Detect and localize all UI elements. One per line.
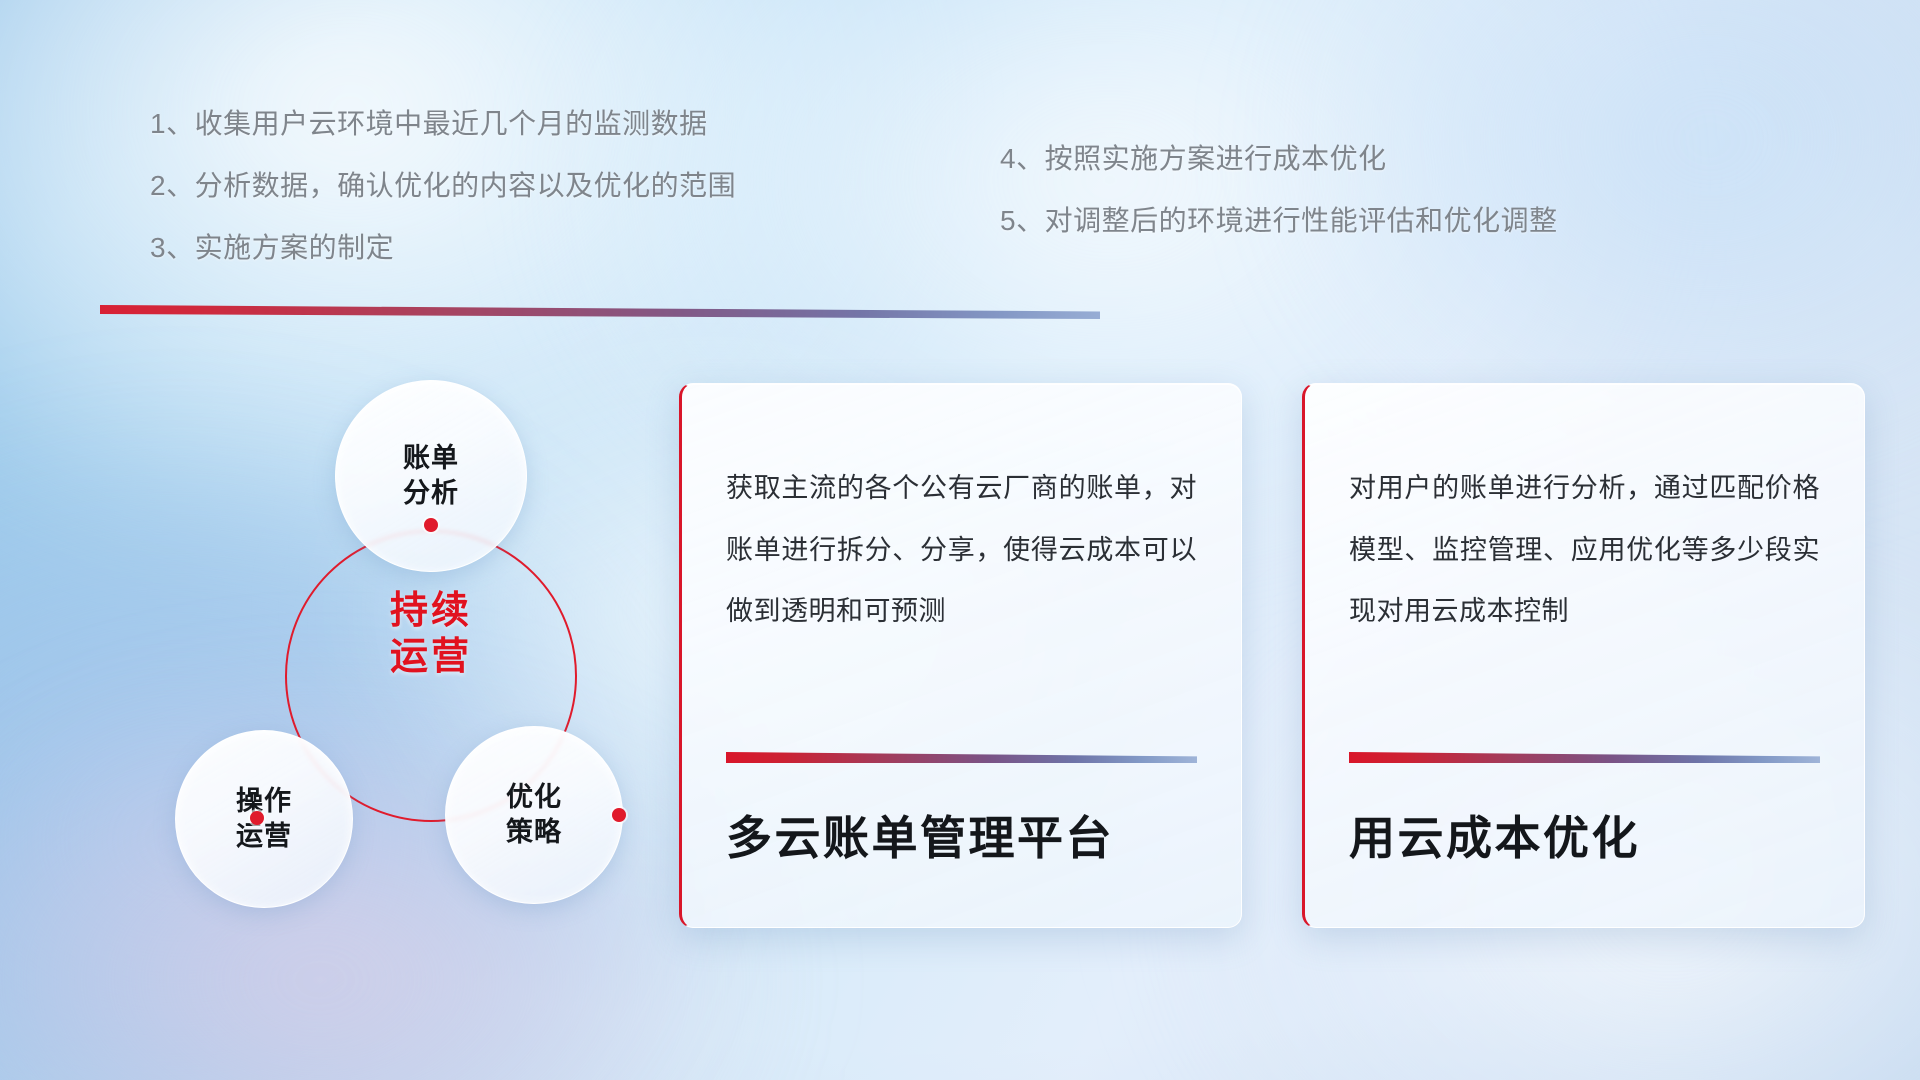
diagram-node-dot-bottom-left xyxy=(250,811,264,825)
venn-circle-diagram: 账单 分析 操作 运营 优化 策略 持续 运营 xyxy=(95,350,615,950)
diagram-node-dot-top xyxy=(424,518,438,532)
diagram-node-dot-bottom-right xyxy=(612,808,626,822)
diagram-center-label: 持续 运营 xyxy=(285,588,577,681)
diagram-bubble-label: 操作 运营 xyxy=(236,784,292,854)
step-list-right-column: 4、按照实施方案进行成本优化 5、对调整后的环境进行性能评估和优化调整 xyxy=(1000,145,1558,269)
diagram-bubble-label: 账单 分析 xyxy=(403,441,459,511)
step-list-left-column: 1、收集用户云环境中最近几个月的监测数据 2、分析数据，确认优化的内容以及优化的… xyxy=(150,110,736,296)
feature-card-title: 多云账单管理平台 xyxy=(726,802,1114,868)
feature-card-multicloud-billing[interactable]: 获取主流的各个公有云厂商的账单，对账单进行拆分、分享，使得云成本可以做到透明和可… xyxy=(679,383,1242,928)
step-item-2: 2、分析数据，确认优化的内容以及优化的范围 xyxy=(150,172,736,200)
feature-card-body: 对用户的账单进行分析，通过匹配价格模型、监控管理、应用优化等多少段实现对用云成本… xyxy=(1349,458,1820,643)
feature-card-body: 获取主流的各个公有云厂商的账单，对账单进行拆分、分享，使得云成本可以做到透明和可… xyxy=(726,458,1197,643)
step-item-1: 1、收集用户云环境中最近几个月的监测数据 xyxy=(150,110,736,138)
feature-card-divider xyxy=(726,752,1197,763)
feature-card-divider xyxy=(1349,752,1820,763)
step-list: 1、收集用户云环境中最近几个月的监测数据 2、分析数据，确认优化的内容以及优化的… xyxy=(0,0,1920,300)
diagram-bubble-bill-analysis[interactable]: 账单 分析 xyxy=(335,380,527,572)
feature-card-title: 用云成本优化 xyxy=(1349,802,1640,868)
diagram-bubble-operations[interactable]: 操作 运营 xyxy=(175,730,353,908)
feature-card-cost-optimization[interactable]: 对用户的账单进行分析，通过匹配价格模型、监控管理、应用优化等多少段实现对用云成本… xyxy=(1302,383,1865,928)
step-item-4: 4、按照实施方案进行成本优化 xyxy=(1000,145,1558,173)
diagram-bubble-label: 优化 策略 xyxy=(506,780,562,850)
diagram-bubble-optimization-strategy[interactable]: 优化 策略 xyxy=(445,726,623,904)
step-item-3: 3、实施方案的制定 xyxy=(150,234,736,262)
step-item-5: 5、对调整后的环境进行性能评估和优化调整 xyxy=(1000,207,1558,235)
feature-card-list: 获取主流的各个公有云厂商的账单，对账单进行拆分、分享，使得云成本可以做到透明和可… xyxy=(679,383,1879,933)
